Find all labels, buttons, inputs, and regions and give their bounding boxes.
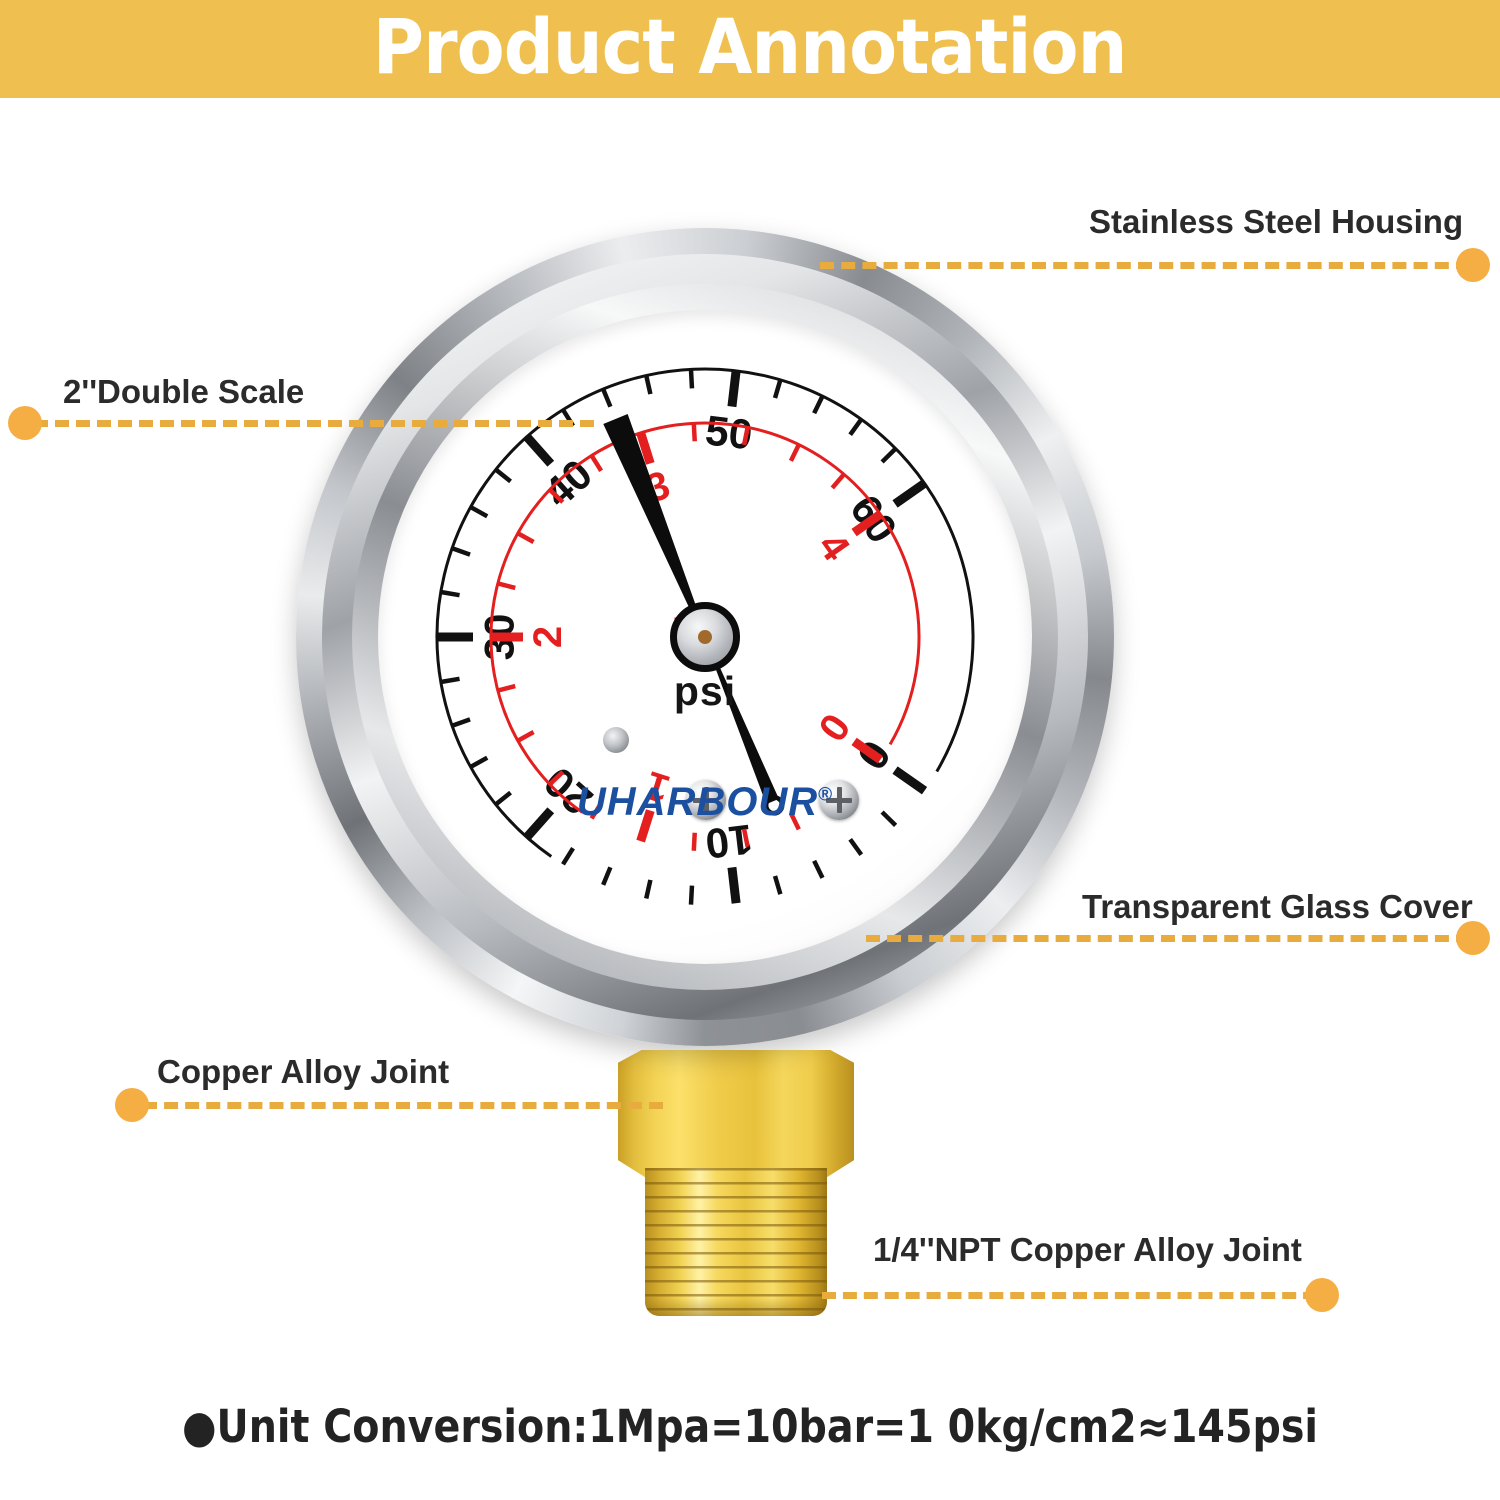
- dial-vent-plug: [603, 727, 629, 753]
- brand-logo: UHARBOUR®: [378, 780, 1032, 825]
- leader-dot-stainless-steel-housing: [1456, 248, 1490, 282]
- leader-line-transparent-glass-cover: [866, 935, 1470, 942]
- annotation-label-copper-alloy-joint: Copper Alloy Joint: [157, 1055, 449, 1088]
- svg-text:4: 4: [809, 525, 858, 569]
- leader-line-double-scale: [34, 420, 594, 427]
- leader-dot-transparent-glass-cover: [1456, 921, 1490, 955]
- brass-npt-thread: [645, 1168, 827, 1316]
- leader-dot-double-scale: [8, 406, 42, 440]
- annotation-label-transparent-glass-cover: Transparent Glass Cover: [1082, 890, 1473, 923]
- product-annotation-canvas: Product Annotation 0102030405060 01234: [0, 0, 1500, 1500]
- stainless-steel-bezel: 0102030405060 01234 bar psi UHARBOUR®: [296, 228, 1114, 1046]
- gauge-dial-face: 0102030405060 01234 bar psi UHARBOUR®: [378, 310, 1032, 964]
- annotation-label-double-scale: 2''Double Scale: [63, 375, 304, 408]
- leader-dot-copper-alloy-joint: [115, 1088, 149, 1122]
- annotation-label-stainless-steel-housing: Stainless Steel Housing: [1089, 205, 1463, 238]
- unit-conversion-note: ●Unit Conversion:1Mpa=10bar=1 0kg/cm2≈14…: [90, 1400, 1410, 1453]
- brass-hex-nut: [618, 1050, 854, 1178]
- leader-dot-npt-copper-alloy-joint: [1305, 1278, 1339, 1312]
- brand-name: UHARBOUR: [577, 780, 818, 824]
- registered-trademark-icon: ®: [818, 785, 833, 806]
- unit-label-psi: psi: [378, 668, 1032, 715]
- leader-line-copper-alloy-joint: [143, 1102, 663, 1109]
- leader-line-npt-copper-alloy-joint: [822, 1292, 1338, 1299]
- unit-label-bar: bar: [378, 610, 1032, 657]
- annotation-label-npt-copper-alloy-joint: 1/4''NPT Copper Alloy Joint: [873, 1233, 1302, 1266]
- leader-line-stainless-steel-housing: [820, 262, 1470, 269]
